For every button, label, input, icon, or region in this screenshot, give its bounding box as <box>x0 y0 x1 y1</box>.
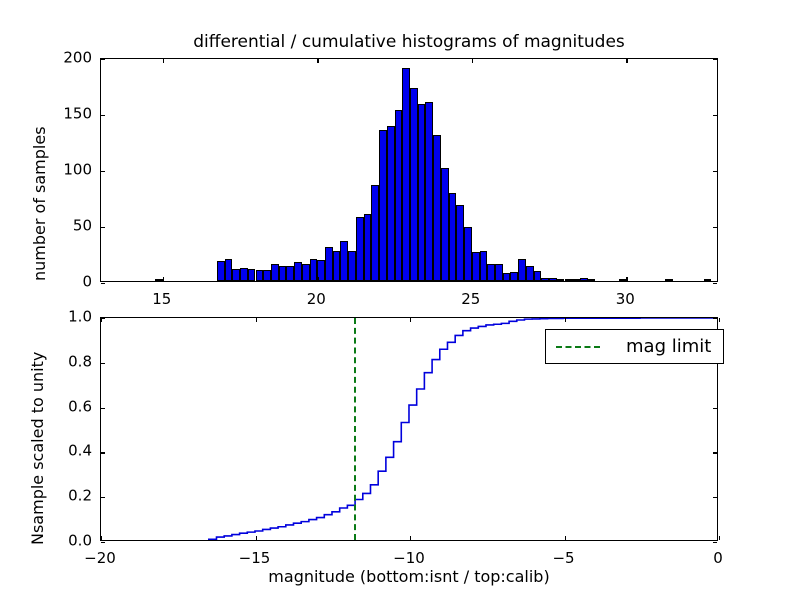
histogram-bar <box>371 185 379 281</box>
histogram-bar <box>588 279 596 281</box>
histogram-bar <box>534 271 542 281</box>
top-panel-xtick <box>472 59 473 63</box>
top-panel-yticklabel: 200 <box>42 51 92 66</box>
histogram-bar <box>348 251 356 281</box>
bottom-panel-ytick <box>101 408 105 409</box>
top-panel-ytick <box>713 115 717 116</box>
histogram-bar <box>302 264 310 281</box>
histogram-plot-area <box>101 59 717 281</box>
histogram-bar <box>425 102 433 281</box>
histogram-bar <box>395 110 403 281</box>
histogram-bar <box>665 279 673 281</box>
bottom-panel-yticklabel: 0.4 <box>42 444 92 459</box>
histogram-bar <box>441 168 449 281</box>
histogram-bar <box>704 279 712 281</box>
bottom-panel-ytick <box>101 542 105 543</box>
histogram-bar <box>256 270 264 281</box>
legend-label-mag-limit: mag limit <box>626 336 711 357</box>
histogram-bar <box>340 241 348 281</box>
bottom-panel-xticklabel: −5 <box>552 551 574 566</box>
histogram-bar <box>510 272 518 281</box>
histogram-bar <box>364 214 372 281</box>
bottom-panel-xticklabel: −15 <box>239 551 271 566</box>
bottom-panel-xtick <box>256 536 257 540</box>
bottom-panel-xtick <box>101 536 102 540</box>
histogram-bar <box>619 279 627 281</box>
top-panel-yticklabel: 100 <box>42 163 92 178</box>
bottom-panel-ytick <box>713 318 717 319</box>
bottom-panel-xtick <box>256 318 257 322</box>
histogram-bar <box>541 278 549 281</box>
bottom-panel-yticklabel: 0.2 <box>42 489 92 504</box>
top-panel-xtick <box>317 277 318 281</box>
legend-dash-icon <box>556 346 600 348</box>
histogram-bar <box>240 268 248 281</box>
histogram-bar <box>433 135 441 281</box>
bottom-panel-yticklabel: 1.0 <box>42 310 92 325</box>
histogram-bar <box>232 269 240 281</box>
top-panel-xticklabel: 30 <box>616 292 635 307</box>
histogram-bar <box>379 130 387 281</box>
bottom-panel-yticklabel: 0.0 <box>42 534 92 549</box>
histogram-bar <box>464 227 472 281</box>
histogram-bar <box>518 259 526 281</box>
bottom-panel-ytick <box>101 363 105 364</box>
histogram-bar <box>526 266 534 281</box>
bottom-panel-ytick <box>713 452 717 453</box>
top-panel-ytick <box>101 283 105 284</box>
top-panel-ytick <box>101 115 105 116</box>
histogram-bar <box>325 247 333 281</box>
histogram-bar <box>480 251 488 281</box>
histogram-bar <box>402 68 410 281</box>
bottom-panel-ytick <box>101 497 105 498</box>
bottom-panel-xticklabel: −10 <box>393 551 425 566</box>
top-panel-yticklabel: 50 <box>42 219 92 234</box>
top-panel-ytick <box>713 227 717 228</box>
top-panel-ylabel: number of samples <box>32 126 48 281</box>
histogram-bar <box>286 266 294 281</box>
histogram-bar <box>310 259 318 281</box>
histogram-bar <box>503 273 511 281</box>
top-panel-xtick <box>472 277 473 281</box>
bottom-panel-yticklabel: 0.6 <box>42 399 92 414</box>
legend[interactable]: mag limit <box>545 329 724 364</box>
histogram-bar <box>248 269 256 281</box>
bottom-panel-xticklabel: −20 <box>84 551 116 566</box>
bottom-panel-xtick <box>565 318 566 322</box>
histogram-bar <box>387 126 395 281</box>
histogram-bar <box>580 278 588 281</box>
top-panel-ytick <box>713 59 717 60</box>
bottom-panel-xtick <box>410 318 411 322</box>
histogram-bar <box>356 217 364 281</box>
histogram-bar <box>333 251 341 281</box>
bottom-panel-ytick <box>713 497 717 498</box>
histogram-bar <box>572 279 580 281</box>
top-panel-yticklabel: 150 <box>42 107 92 122</box>
top-panel-xtick <box>163 277 164 281</box>
histogram-bar <box>418 104 426 281</box>
figure-xlabel: magnitude (bottom:isnt / top:calib) <box>100 569 718 585</box>
mag-limit-line <box>354 318 356 540</box>
histogram-bar <box>495 264 503 281</box>
top-panel-ytick <box>713 283 717 284</box>
top-panel-xticklabel: 25 <box>461 292 480 307</box>
histogram-bar <box>225 259 233 281</box>
histogram-bar <box>487 264 495 281</box>
top-panel-yticklabel: 0 <box>42 275 92 290</box>
histogram-bar <box>565 279 573 281</box>
top-panel-ytick <box>101 227 105 228</box>
histogram-bar <box>410 88 418 281</box>
bottom-panel-ytick <box>713 542 717 543</box>
bottom-panel-ytick <box>101 318 105 319</box>
bottom-panel-ytick <box>713 408 717 409</box>
top-panel-xticklabel: 20 <box>307 292 326 307</box>
top-panel-xtick <box>317 59 318 63</box>
bottom-panel-xticklabel: 0 <box>713 551 723 566</box>
bottom-panel-yticklabel: 0.8 <box>42 354 92 369</box>
histogram-bar <box>155 279 163 281</box>
top-panel-ytick <box>101 59 105 60</box>
histogram-bar <box>456 205 464 281</box>
top-panel-xtick <box>626 277 627 281</box>
top-panel-xtick <box>163 59 164 63</box>
histogram-bar <box>263 270 271 281</box>
bottom-panel-xtick <box>719 318 720 322</box>
bottom-panel-xtick <box>719 536 720 540</box>
bottom-panel-ytick <box>101 452 105 453</box>
top-panel-axes <box>100 58 718 282</box>
bottom-panel-xtick <box>410 536 411 540</box>
top-panel-xticklabel: 15 <box>152 292 171 307</box>
histogram-bar <box>271 264 279 281</box>
histogram-bar <box>449 193 457 281</box>
top-panel-ytick <box>101 171 105 172</box>
figure-canvas: differential / cumulative histograms of … <box>0 0 800 600</box>
histogram-bar <box>557 279 565 281</box>
top-panel-ytick <box>713 171 717 172</box>
histogram-bar <box>294 262 302 281</box>
top-panel-xtick <box>626 59 627 63</box>
histogram-bar <box>217 261 225 281</box>
bottom-panel-xtick <box>565 536 566 540</box>
histogram-bar <box>279 266 287 281</box>
figure-title: differential / cumulative histograms of … <box>100 34 718 51</box>
histogram-bar <box>549 278 557 281</box>
